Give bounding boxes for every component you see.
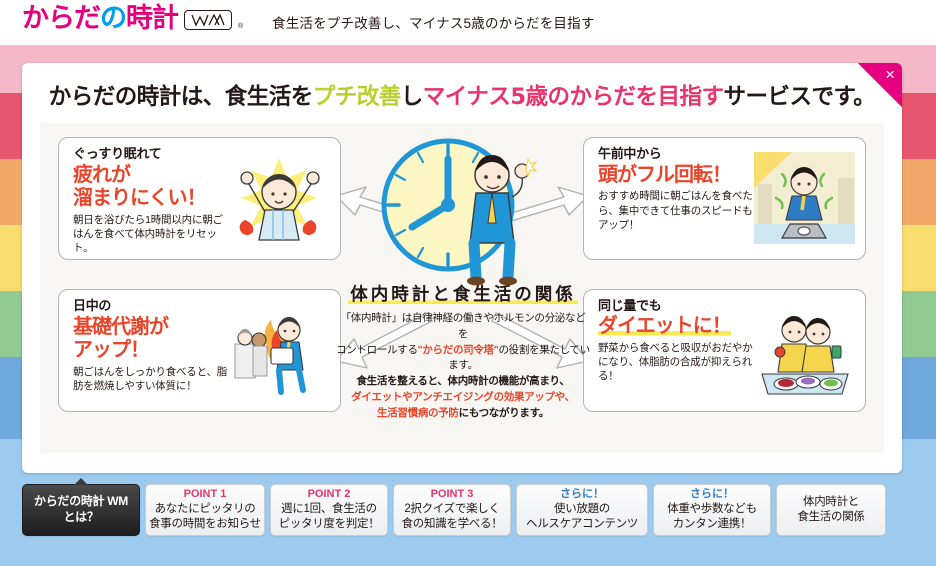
logo-text: からだの時計 [22, 5, 178, 32]
card-body: 朝日を浴びたら1時間以内に朝ごはんを食べて体内時計をリセット。 [73, 213, 233, 256]
nav-tab-line2: 食の知識を学べる！ [402, 517, 503, 532]
card-headline-2: 溜まりにくい！ [73, 186, 233, 208]
card-headline-1: ダイエットに！ [598, 313, 731, 337]
nav-tab-line1: 2択クイズで楽しく [404, 502, 499, 517]
nav-tab-line2: 食生活の関係 [797, 510, 864, 525]
nav-tab-kicker: POINT 1 [184, 488, 227, 502]
center-title: 体内時計と食生活の関係 [340, 281, 586, 306]
center-line-2: コントロールする"からだの司令塔"の役割を果たしています。 [336, 343, 590, 375]
promo-modal: × からだの時計は、食生活をプチ改善しマイナス5歳のからだを目指すサービスです。… [22, 63, 902, 473]
nav-tab-point-2[interactable]: POINT 2 週に1回、食生活の ピッタリ度を判定！ [270, 484, 388, 536]
wm-logo-icon [184, 10, 232, 30]
card-headline-1: 疲れが [73, 163, 233, 185]
nav-tab-line2: カンタン連携！ [673, 517, 751, 532]
center-line-4: ダイエットやアンチエイジングの効果アップや、 [336, 390, 590, 406]
card-headline-2: アップ！ [73, 338, 233, 360]
nav-tab-line2: ヘルスケアコンテンツ [526, 517, 638, 532]
page-root: からだの時計 ® 食生活をプチ改善し、マイナス5歳のからだを目指す × [0, 0, 936, 566]
man-waking-up-illustration [227, 148, 332, 248]
nav-tab-about[interactable]: からだの時計 WM とは？ [22, 484, 140, 536]
card-metabolism: 日中の 基礎代謝が アップ！ 朝ごはんをしっかり食べると、脂肪を燃焼しやすい体質… [58, 289, 341, 412]
nav-tab-line2: ピッタリ度を判定！ [279, 517, 380, 532]
nav-tab-kicker: POINT 2 [308, 488, 351, 502]
card-subtitle: 同じ量でも [598, 299, 758, 314]
man-at-laptop-illustration [752, 148, 857, 248]
man-walking-fast-illustration [227, 300, 332, 400]
center-line-3: 食生活を整えると、体内時計の機能が高まり、 [336, 374, 590, 390]
couple-eating-vegetables-illustration [752, 300, 857, 400]
card-subtitle: ぐっすり眠れて [73, 147, 233, 162]
content-panel: ぐっすり眠れて 疲れが 溜まりにくい！ 朝日を浴びたら1時間以内に朝ごはんを食べ… [40, 123, 884, 453]
center-line-5: 生活習慣病の予防にもつながります。 [336, 406, 590, 422]
card-sleep: ぐっすり眠れて 疲れが 溜まりにくい！ 朝日を浴びたら1時間以内に朝ごはんを食べ… [58, 137, 341, 260]
nav-tab-line1: 週に1回、食生活の [281, 502, 377, 517]
card-headline-1: 基礎代謝が [73, 315, 233, 337]
card-body: 朝ごはんをしっかり食べると、脂肪を燃焼しやすい体質に！ [73, 365, 233, 393]
clock-with-businessman-illustration [370, 131, 560, 291]
nav-tab-line1: 使い放題の [554, 502, 610, 517]
card-subtitle: 日中の [73, 299, 233, 314]
nav-tab-line2: 食事の時間をお知らせ [149, 517, 261, 532]
center-description: 「体内時計」は自律神経の働きやホルモンの分泌などを コントロールする"からだの司… [336, 311, 590, 421]
nav-tab-line1: からだの時計 WM [34, 494, 128, 510]
nav-tab-kicker: さらに！ [690, 488, 734, 502]
card-headline-1: 頭がフル回転！ [598, 163, 758, 185]
logo[interactable]: からだの時計 ® [22, 5, 243, 32]
nav-tab-line1: 体重や歩数なども [667, 502, 757, 517]
card-text: 午前中から 頭がフル回転！ おすすめ時間に朝ごはんを食べたら、集中できて仕事のス… [598, 147, 758, 232]
nav-tab-kicker: POINT 3 [431, 488, 474, 502]
card-text: 日中の 基礎代謝が アップ！ 朝ごはんをしっかり食べると、脂肪を燃焼しやすい体質… [73, 299, 233, 393]
header-tagline: 食生活をプチ改善し、マイナス5歳のからだを目指す [272, 12, 595, 32]
bottom-nav: からだの時計 WM とは？ POINT 1 あなたにピッタリの 食事の時間をお知… [22, 484, 914, 536]
nav-tab-point-3[interactable]: POINT 3 2択クイズで楽しく 食の知識を学べる！ [393, 484, 511, 536]
nav-tab-body-clock-relation[interactable]: 体内時計と 食生活の関係 [776, 484, 886, 536]
card-body: 野菜から食べると吸収がおだやかになり、体脂肪の合成が抑えられる！ [598, 341, 758, 384]
modal-headline: からだの時計は、食生活をプチ改善しマイナス5歳のからだを目指すサービスです。 [22, 79, 902, 111]
nav-tab-line2: とは？ [63, 510, 98, 526]
card-text: 同じ量でも ダイエットに！ 野菜から食べると吸収がおだやかになり、体脂肪の合成が… [598, 299, 758, 383]
card-focus: 午前中から 頭がフル回転！ おすすめ時間に朝ごはんを食べたら、集中できて仕事のス… [583, 137, 866, 260]
center-line-1: 「体内時計」は自律神経の働きやホルモンの分泌などを [336, 311, 590, 343]
nav-tab-kicker: さらに！ [560, 488, 604, 502]
nav-tab-line1: 体内時計と [803, 495, 859, 510]
nav-tab-healthcare-contents[interactable]: さらに！ 使い放題の ヘルスケアコンテンツ [516, 484, 648, 536]
card-body: おすすめ時間に朝ごはんを食べたら、集中できて仕事のスピードもアップ！ [598, 189, 758, 232]
card-text: ぐっすり眠れて 疲れが 溜まりにくい！ 朝日を浴びたら1時間以内に朝ごはんを食べ… [73, 147, 233, 255]
card-headline-wrap: ダイエットに！ [598, 314, 758, 337]
center-cluster: 体内時計と食生活の関係 「体内時計」は自律神経の働きやホルモンの分泌などを コン… [340, 123, 586, 453]
nav-tab-device-sync[interactable]: さらに！ 体重や歩数なども カンタン連携！ [653, 484, 771, 536]
registered-mark: ® [238, 23, 243, 30]
nav-tab-line1: あなたにピッタリの [155, 502, 256, 517]
nav-tab-point-1[interactable]: POINT 1 あなたにピッタリの 食事の時間をお知らせ [145, 484, 265, 536]
card-subtitle: 午前中から [598, 147, 758, 162]
site-header: からだの時計 ® 食生活をプチ改善し、マイナス5歳のからだを目指す [0, 0, 936, 45]
card-diet: 同じ量でも ダイエットに！ 野菜から食べると吸収がおだやかになり、体脂肪の合成が… [583, 289, 866, 412]
